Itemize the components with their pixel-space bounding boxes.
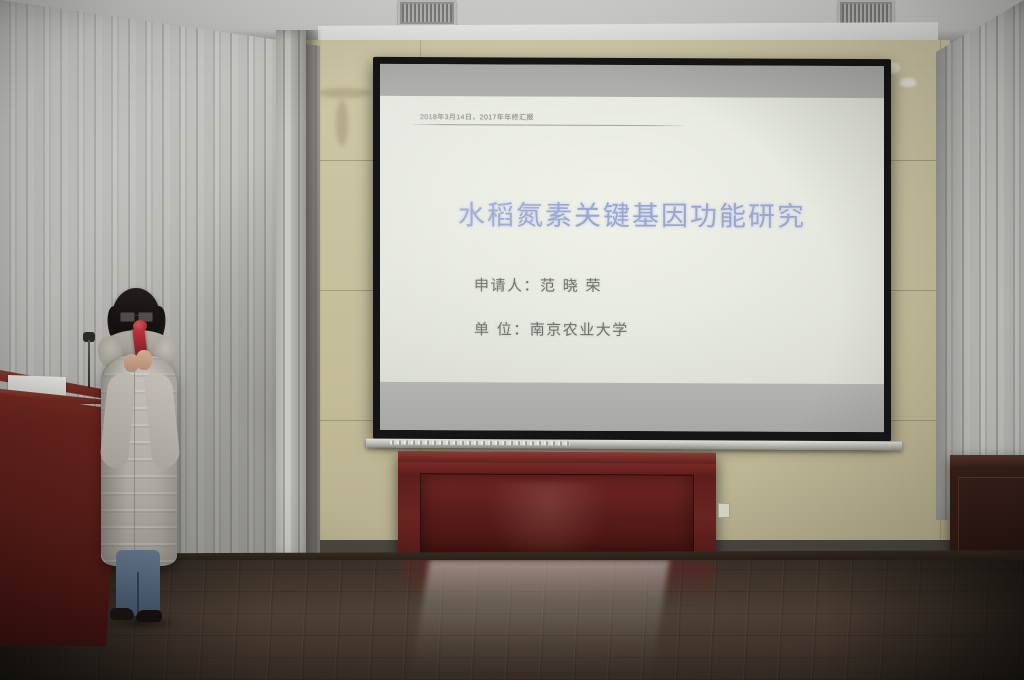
jeans-inseam — [137, 572, 139, 616]
floor-light-reflection — [410, 560, 669, 680]
wall-outlet — [718, 503, 730, 518]
fluted-concrete-panel-wall-right — [936, 0, 1024, 520]
slide-header-text: 2018年3月14日，2017年年终汇报 — [420, 112, 534, 122]
slide-affiliation-line: 单 位：南京农业大学 — [474, 318, 629, 340]
projection-screen-surface: 2018年3月14日，2017年年终汇报 水稻氮素关键基因功能研究 申请人：范 … — [380, 64, 884, 432]
shoe-right — [136, 610, 162, 622]
side-podium-panel — [958, 477, 1024, 555]
eyeglasses-icon — [120, 312, 153, 320]
slide-header-rule — [413, 124, 683, 126]
stage-table-top — [398, 451, 716, 464]
screen-letterbox-bottom — [380, 382, 884, 432]
conference-room-photo: 2018年3月14日，2017年年终汇报 水稻氮素关键基因功能研究 申请人：范 … — [0, 0, 1024, 680]
gooseneck-microphone-stem — [88, 340, 90, 388]
screen-letterbox-top — [380, 64, 884, 98]
vent-grille — [402, 4, 452, 22]
slide-title: 水稻氮素关键基因功能研究 — [380, 193, 884, 234]
corner-shadow — [306, 30, 322, 560]
vent-grille — [842, 4, 890, 24]
screen-glare — [380, 96, 884, 384]
floor-shadow-right — [824, 560, 1024, 680]
coat-center-seam — [134, 364, 135, 559]
projection-screen-frame: 2018年3月14日，2017年年终汇报 水稻氮素关键基因功能研究 申请人：范 … — [373, 57, 891, 441]
slide-applicant-line: 申请人：范 晓 荣 — [474, 274, 602, 296]
air-vent-icon — [398, 0, 456, 26]
presentation-slide: 2018年3月14日，2017年年终汇报 水稻氮素关键基因功能研究 申请人：范 … — [380, 96, 884, 384]
side-podium-top — [950, 455, 1024, 468]
lens-left — [120, 312, 135, 322]
side-podium — [950, 455, 1024, 565]
hand-right — [136, 350, 152, 370]
presenter — [96, 288, 188, 628]
shoe-left — [110, 608, 134, 620]
wall-pillar — [276, 30, 306, 560]
